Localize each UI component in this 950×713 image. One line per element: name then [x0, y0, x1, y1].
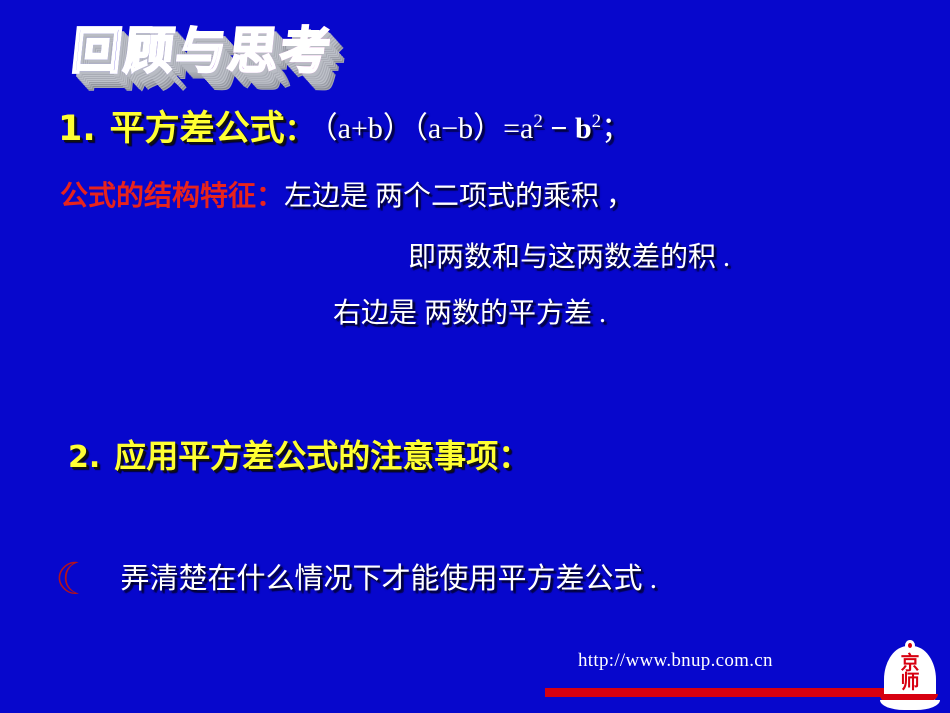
logo-knob-dot	[908, 643, 912, 648]
formula-part-1: （a+b）（a−b）=a	[323, 112, 534, 145]
slide-title-wordart: 回顾与思考 回顾与思考	[72, 22, 412, 84]
point-1-colon: ：	[285, 113, 315, 148]
footer-url[interactable]: http://www.bnup.com.cn	[578, 650, 773, 672]
structure-line-2: 即两数和与这两数差的积 .	[408, 244, 730, 272]
point-1-formula: （a+b）（a−b）=a2 − b2；	[323, 112, 631, 145]
bullet-text: 弄清楚在什么情况下才能使用平方差公式 .	[120, 563, 657, 595]
crescent-moon-bullet-icon: ☾	[55, 562, 94, 598]
formula-exponent-1: 2	[533, 111, 543, 132]
formula-tail: ；	[601, 112, 631, 145]
publisher-logo: 京 师	[878, 638, 942, 710]
point-2-number: 2.	[68, 440, 100, 475]
title-face-layer: 回顾与思考	[69, 22, 335, 80]
formula-part-2: − b	[543, 112, 592, 145]
structure-line-1: 公式的结构特征：左边是 两个二项式的乘积 ，	[60, 182, 634, 211]
point-2-label: 应用平方差公式的注意事项：	[114, 437, 530, 475]
structure-red-label: 公式的结构特征：	[60, 179, 284, 212]
point-1-number: 1.	[58, 109, 96, 149]
formula-exponent-2: 2	[592, 111, 602, 132]
logo-char-shi: 师	[878, 673, 942, 692]
point-1-line: 1.平方差公式：（a+b）（a−b）=a2 − b2；	[58, 112, 631, 147]
structure-line-3: 右边是 两数的平方差 .	[333, 300, 606, 328]
point-1-label: 平方差公式	[110, 109, 285, 149]
bullet-line: ☾弄清楚在什么情况下才能使用平方差公式 .	[55, 562, 657, 598]
slide-canvas: 回顾与思考 回顾与思考 1.平方差公式：（a+b）（a−b）=a2 − b2； …	[0, 0, 950, 713]
footer-red-bar	[545, 688, 935, 697]
logo-bell-skirt	[880, 700, 940, 710]
point-2-line: 2.应用平方差公式的注意事项：	[68, 440, 530, 473]
structure-text-1: 左边是 两个二项式的乘积 ，	[284, 181, 634, 212]
